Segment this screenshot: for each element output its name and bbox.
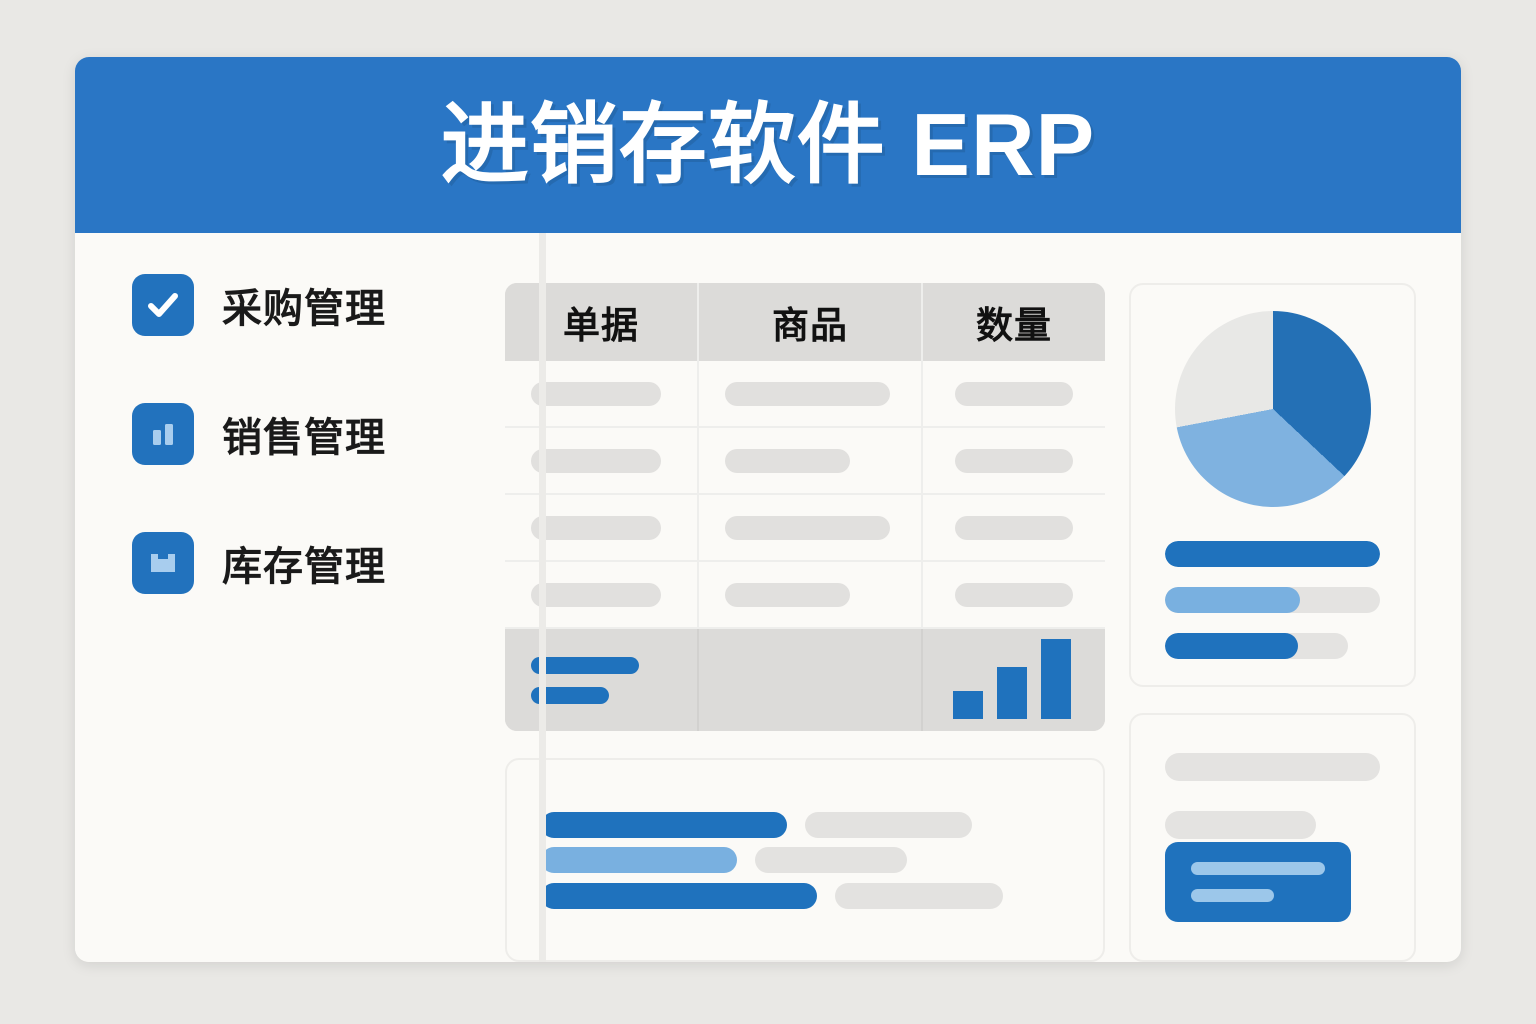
cell-document [505,495,699,560]
skeleton-bar [531,516,661,540]
sidebar-item-label: 库存管理 [222,534,386,592]
item-bar [541,812,787,838]
bar-chart-icon [132,403,194,465]
sidebar-item-label: 采购管理 [222,276,386,334]
sidebar-item-purchasing[interactable]: 采购管理 [132,273,465,337]
progress-fill [1165,633,1298,659]
button-line [1191,862,1325,875]
column-header-product: 商品 [699,283,923,361]
cell-product [699,495,923,560]
item-bar [541,883,817,909]
skeleton-bar [531,382,661,406]
skeleton-bar [725,516,890,540]
progress-fill [1165,587,1300,613]
window-body: 采购管理 销售管理 库存管理 [75,233,1461,962]
table-row[interactable] [505,428,1105,495]
primary-action-button[interactable] [1165,842,1351,922]
skeleton-bar [531,583,661,607]
mini-bar [953,691,983,719]
action-card [1129,713,1416,962]
table-header-row: 单据 商品 数量 [505,283,1105,361]
check-icon [132,274,194,336]
cell-quantity [923,361,1105,426]
progress-bar [1165,541,1380,567]
mini-bar [1041,639,1071,719]
cell-quantity [923,428,1105,493]
list-item[interactable] [541,883,1069,909]
footer-summary [505,629,699,731]
main-right-column [1129,283,1416,962]
page-title: 进销存软件 ERP [441,101,1095,189]
skeleton-bar [725,382,890,406]
button-line [1191,889,1274,902]
skeleton-bar [1165,811,1316,839]
mini-bar [997,667,1027,719]
list-item[interactable] [541,812,1069,838]
progress-list [1165,541,1380,659]
skeleton-bar [955,516,1073,540]
skeleton-bar [955,583,1073,607]
item-bar [541,847,737,873]
item-placeholder [805,812,972,838]
cell-document [505,428,699,493]
sidebar: 采购管理 销售管理 库存管理 [75,233,465,962]
progress-bar [1165,633,1348,659]
summary-list-card [505,758,1105,962]
progress-bar [1165,587,1380,613]
skeleton-bar [955,449,1073,473]
skeleton-bar [955,382,1073,406]
table-row[interactable] [505,361,1105,428]
table-row[interactable] [505,562,1105,629]
skeleton-bar [725,449,850,473]
main-content: 单据 商品 数量 [465,233,1461,962]
progress-fill [1165,541,1380,567]
bar-chart-icon [949,629,1079,731]
column-header-quantity: 数量 [923,283,1105,361]
main-left-column: 单据 商品 数量 [505,283,1105,962]
sidebar-item-inventory[interactable]: 库存管理 [132,531,465,595]
table-row[interactable] [505,495,1105,562]
cell-product [699,361,923,426]
pie-chart [1175,311,1371,507]
pie-chart-card [1129,283,1416,687]
skeleton-bar [531,449,661,473]
list-item[interactable] [541,847,1069,873]
cell-document [505,562,699,627]
app-header: 进销存软件 ERP [75,57,1461,233]
cell-quantity [923,562,1105,627]
item-placeholder [835,883,1003,909]
sidebar-item-sales[interactable]: 销售管理 [132,402,465,466]
table-footer-row [505,629,1105,731]
skeleton-bar [1165,753,1380,781]
data-table: 单据 商品 数量 [505,283,1105,731]
sidebar-divider [539,233,546,962]
column-header-document: 单据 [505,283,699,361]
cell-product [699,562,923,627]
cell-product [699,428,923,493]
footer-spacer [699,629,923,731]
cell-document [505,361,699,426]
inventory-box-icon [132,532,194,594]
cell-quantity [923,495,1105,560]
app-window: 进销存软件 ERP 采购管理 销售管理 [75,57,1461,962]
skeleton-bar [725,583,850,607]
summary-bar [531,657,639,674]
item-placeholder [755,847,907,873]
footer-mini-chart [923,629,1105,731]
sidebar-item-label: 销售管理 [222,405,386,463]
